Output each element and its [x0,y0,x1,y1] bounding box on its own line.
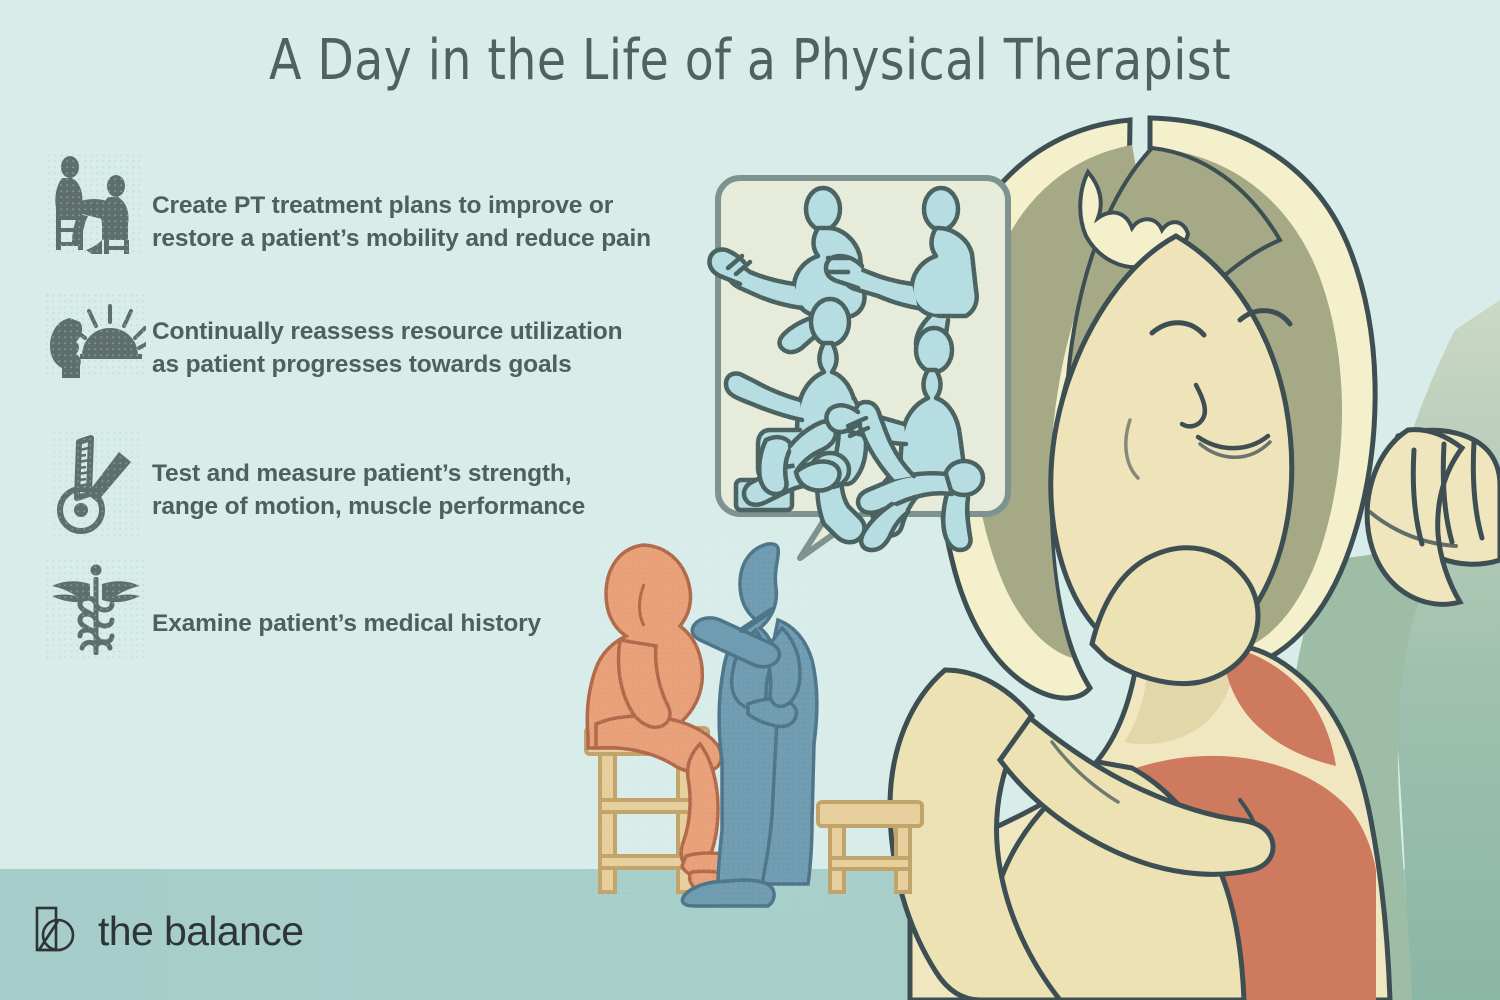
caduceus-icon [40,560,152,660]
the-balance-wordmark: the balance [98,908,303,955]
list-item-text: Continually reassess resource utilizatio… [152,294,622,381]
page-title: A Day in the Life of a Physical Therapis… [45,28,1455,93]
goniometer-icon [40,432,152,536]
the-balance-logo-mark [30,902,84,961]
head-with-sunrise-icon [40,294,152,378]
therapist-treating-seated-patient-icon [40,154,152,254]
list-item: Continually reassess resource utilizatio… [40,294,622,381]
list-item-text: Test and measure patient’s strength, ran… [152,432,585,523]
list-item: Test and measure patient’s strength, ran… [40,432,585,536]
list-item-text: Create PT treatment plans to improve or … [152,154,651,255]
infographic-canvas: A Day in the Life of a Physical Therapis… [0,0,1500,1000]
list-item-text: Examine patient’s medical history [152,560,541,641]
list-item: Examine patient’s medical history [40,560,541,660]
the-balance-logo[interactable]: the balance [30,902,303,961]
list-item: Create PT treatment plans to improve or … [40,154,651,255]
